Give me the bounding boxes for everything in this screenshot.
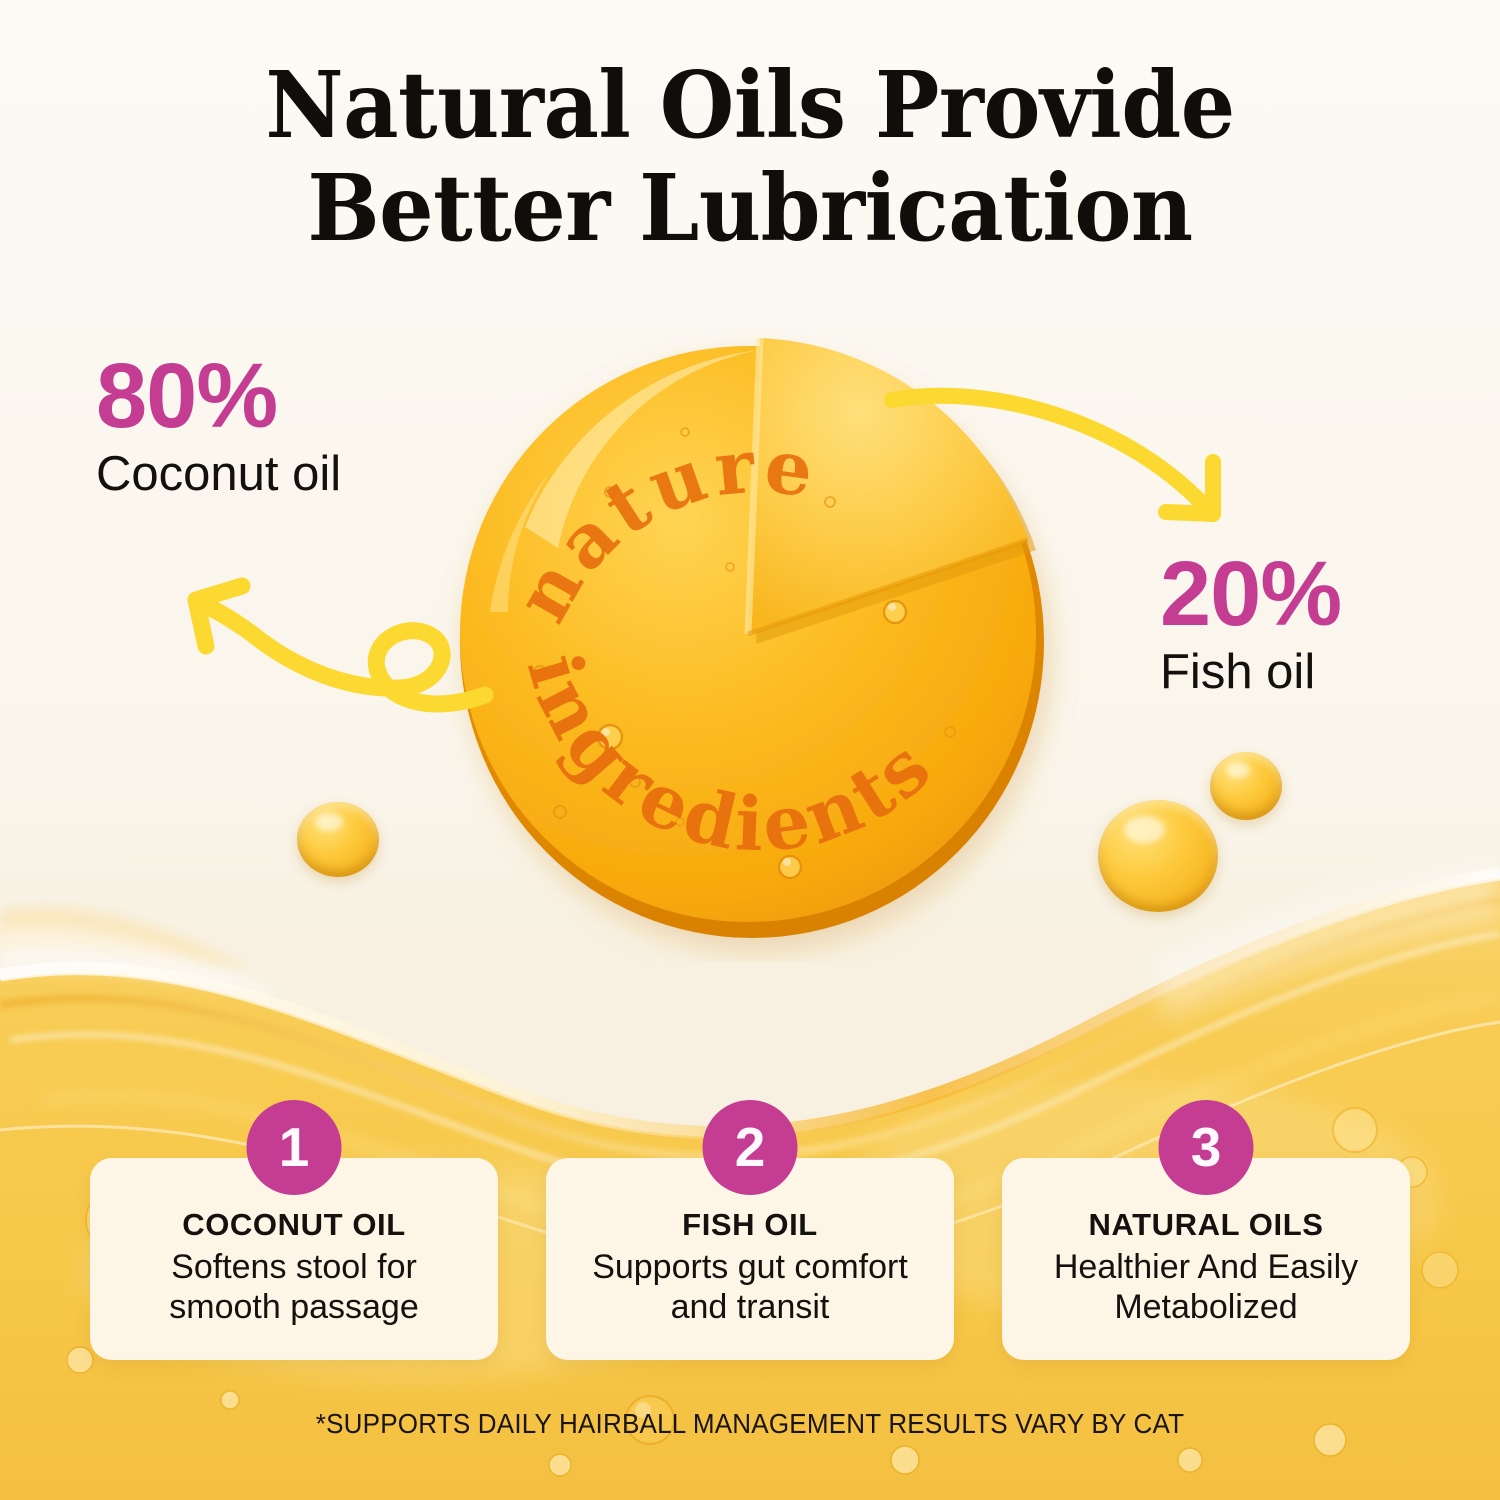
card-desc-line-2: smooth passage	[169, 1288, 419, 1326]
card-desc-line-2: and transit	[671, 1288, 830, 1326]
card-desc-line-1: Healthier And Easily	[1054, 1248, 1358, 1286]
benefit-card-fish-oil[interactable]: 2 FISH OIL Supports gut comfort and tran…	[546, 1158, 954, 1360]
card-desc-natural-oils: Healthier And Easily Metabolized	[1054, 1247, 1358, 1327]
card-title-coconut-oil: COCONUT OIL	[182, 1207, 406, 1243]
card-desc-line-1: Supports gut comfort	[592, 1248, 908, 1286]
benefit-card-natural-oils[interactable]: 3 NATURAL OILS Healthier And Easily Meta…	[1002, 1158, 1410, 1360]
callout-coconut-percent: 80%	[96, 350, 341, 442]
arrow-to-coconut-icon	[150, 490, 540, 750]
disclaimer-text: *SUPPORTS DAILY HAIRBALL MANAGEMENT RESU…	[53, 1408, 1448, 1440]
card-desc-line-1: Softens stool for	[171, 1248, 417, 1286]
infographic-canvas: Natural Oils Provide Better Lubrication	[0, 0, 1500, 1500]
oil-droplet-right-small	[1210, 752, 1282, 820]
card-desc-fish-oil: Supports gut comfort and transit	[592, 1247, 908, 1327]
callout-coconut-oil: 80% Coconut oil	[96, 350, 341, 502]
card-desc-line-2: Metabolized	[1114, 1288, 1297, 1326]
page-title: Natural Oils Provide Better Lubrication	[53, 54, 1448, 260]
card-desc-coconut-oil: Softens stool for smooth passage	[169, 1247, 419, 1327]
card-badge-2: 2	[703, 1100, 798, 1195]
benefit-cards: 1 COCONUT OIL Softens stool for smooth p…	[90, 1158, 1410, 1360]
card-badge-3: 3	[1159, 1100, 1254, 1195]
card-badge-1: 1	[247, 1100, 342, 1195]
benefit-card-coconut-oil[interactable]: 1 COCONUT OIL Softens stool for smooth p…	[90, 1158, 498, 1360]
page-title-line-2: Better Lubrication	[53, 157, 1448, 260]
card-title-natural-oils: NATURAL OILS	[1088, 1207, 1323, 1243]
page-title-line-1: Natural Oils Provide	[53, 54, 1448, 157]
callout-fish-label: Fish oil	[1160, 646, 1341, 700]
arrow-to-fish-icon	[880, 372, 1280, 582]
card-title-fish-oil: FISH OIL	[682, 1207, 818, 1243]
oil-droplet-left	[297, 802, 379, 877]
oil-droplet-right-large	[1098, 800, 1218, 912]
